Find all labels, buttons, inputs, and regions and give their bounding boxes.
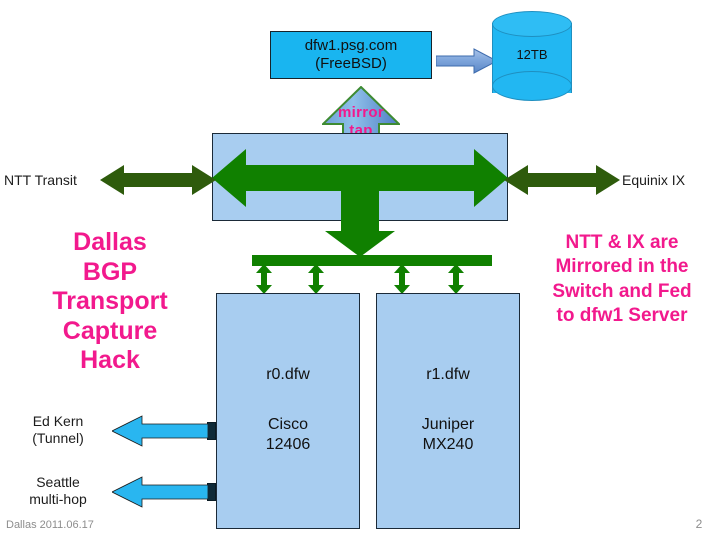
router-name-r1: r1.dfw bbox=[426, 366, 470, 385]
slide-canvas: dfw1.psg.com (FreeBSD) 12TB bbox=[0, 0, 720, 540]
title-line-1: Dallas bbox=[18, 228, 202, 258]
side-note-annotation: NTT & IX are Mirrored in the Switch and … bbox=[524, 231, 720, 328]
ed-kern-line1: Ed Kern bbox=[33, 413, 84, 430]
seattle-label: Seattle multi-hop bbox=[8, 470, 108, 512]
bidirectional-arrow-icon bbox=[100, 162, 216, 198]
router-port-connector bbox=[207, 422, 216, 440]
bidirectional-arrow-icon bbox=[212, 147, 508, 257]
title-line-4: Capture bbox=[18, 317, 202, 347]
title-line-2: BGP bbox=[18, 258, 202, 288]
server-hostname: dfw1.psg.com bbox=[305, 37, 398, 55]
slide-title-annotation: Dallas BGP Transport Capture Hack bbox=[18, 228, 202, 376]
cylinder-bottom bbox=[492, 71, 572, 101]
router-link-arrows bbox=[246, 264, 498, 294]
storage-capacity-label: 12TB bbox=[492, 44, 572, 66]
left-arrow-icon bbox=[112, 415, 208, 447]
router-box-r0[interactable]: r0.dfw Cisco 12406 bbox=[216, 293, 360, 529]
router-vendor-r0: Cisco bbox=[266, 415, 311, 436]
server-box[interactable]: dfw1.psg.com (FreeBSD) bbox=[270, 31, 432, 79]
server-box-text: dfw1.psg.com (FreeBSD) bbox=[305, 37, 398, 72]
title-line-3: Transport bbox=[18, 287, 202, 317]
note-line-2: Mirrored in the bbox=[524, 255, 720, 279]
footer-date: Dallas 2011.06.17 bbox=[6, 516, 226, 534]
seattle-line2: multi-hop bbox=[29, 491, 87, 508]
ed-kern-label: Ed Kern (Tunnel) bbox=[8, 409, 108, 451]
seattle-line1: Seattle bbox=[36, 474, 80, 491]
note-line-3: Switch and Fed bbox=[524, 280, 720, 304]
storage-cylinder[interactable]: 12TB bbox=[492, 12, 572, 104]
equinix-ix-label: Equinix IX bbox=[622, 168, 720, 192]
router-name-r0: r0.dfw bbox=[266, 366, 310, 385]
router-model-r0: Cisco 12406 bbox=[266, 415, 311, 457]
note-line-4: to dfw1 Server bbox=[524, 304, 720, 328]
ed-kern-line2: (Tunnel) bbox=[32, 430, 84, 447]
router-modelnum-r0: 12406 bbox=[266, 435, 311, 456]
server-os: (FreeBSD) bbox=[305, 55, 398, 73]
left-arrow-icon bbox=[112, 476, 208, 508]
ntt-transit-label: NTT Transit bbox=[4, 168, 100, 192]
router-model-r1: Juniper MX240 bbox=[422, 415, 474, 457]
router-box-r1[interactable]: r1.dfw Juniper MX240 bbox=[376, 293, 520, 529]
page-number: 2 bbox=[686, 514, 712, 534]
title-line-5: Hack bbox=[18, 346, 202, 376]
router-port-connector bbox=[207, 483, 216, 501]
note-line-1: NTT & IX are bbox=[524, 231, 720, 255]
router-modelnum-r1: MX240 bbox=[422, 435, 474, 456]
right-arrow-icon bbox=[436, 47, 498, 75]
router-vendor-r1: Juniper bbox=[422, 415, 474, 436]
cylinder-top bbox=[492, 11, 572, 37]
bidirectional-arrow-icon bbox=[504, 162, 620, 198]
